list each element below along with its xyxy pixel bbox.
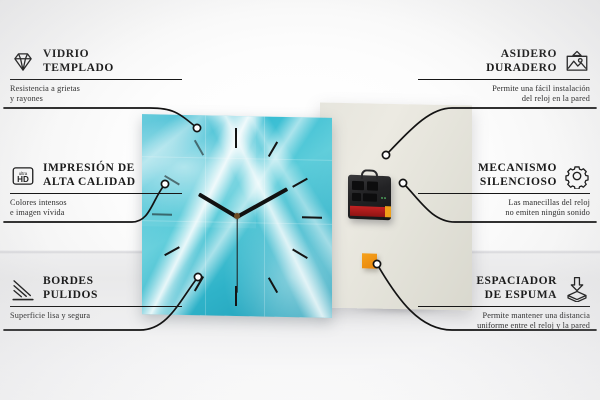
callout-title-line2: PULIDOS xyxy=(43,289,98,303)
callout-divider xyxy=(418,79,590,80)
callout-head: MECANISMO SILENCIOSO xyxy=(418,162,590,189)
hour-tick-12 xyxy=(235,128,237,148)
callout-title-line1: VIDRIO xyxy=(43,48,114,62)
callout-title-line2: TEMPLADO xyxy=(43,62,114,76)
callout-desc-line1: Colores intensos xyxy=(10,198,182,209)
callout-head: VIDRIO TEMPLADO xyxy=(10,48,182,75)
callout-title-line2: SILENCIOSO xyxy=(478,176,557,190)
callout-divider xyxy=(10,79,182,80)
callout-divider xyxy=(418,306,590,307)
callout-head: BORDES PULIDOS xyxy=(10,275,182,302)
callout-title: BORDES PULIDOS xyxy=(43,275,98,302)
callout-title-line1: BORDES xyxy=(43,275,98,289)
callout-title: IMPRESIÓN DE ALTA CALIDAD xyxy=(43,162,136,189)
battery-label xyxy=(350,206,386,217)
callout-desc-line1: Permite una fácil instalación xyxy=(418,84,590,95)
callout-title: VIDRIO TEMPLADO xyxy=(43,48,114,75)
gear-icon xyxy=(564,163,590,189)
callout-desc-line1: Las manecillas del reloj xyxy=(418,198,590,209)
callout-desc-line2: y rayones xyxy=(10,94,182,105)
clock-hub xyxy=(234,213,240,219)
callout-vidrio-templado: VIDRIO TEMPLADO Resistencia a grietas y … xyxy=(10,48,182,105)
callout-title: MECANISMO SILENCIOSO xyxy=(478,162,557,189)
foam-spacer-sample xyxy=(362,253,377,269)
callout-description: Superficie lisa y segura xyxy=(10,311,182,322)
callout-divider xyxy=(10,193,182,194)
callout-title-line1: ASIDERO xyxy=(486,48,557,62)
callout-bordes-pulidos: BORDES PULIDOS Superficie lisa y segura xyxy=(10,275,182,321)
ultra-hd-icon: ultra HD xyxy=(10,163,36,189)
callout-mecanismo-silencioso: MECANISMO SILENCIOSO Las manecillas del … xyxy=(418,162,590,219)
callout-head: ASIDERO DURADERO xyxy=(418,48,590,75)
callout-desc-line1: Resistencia a grietas xyxy=(10,84,182,95)
callout-desc-line2: no emiten ningún sonido xyxy=(418,208,590,219)
callout-title: ASIDERO DURADERO xyxy=(486,48,557,75)
callout-title-line2: ALTA CALIDAD xyxy=(43,176,136,190)
callout-desc-line2: del reloj en la pared xyxy=(418,94,590,105)
callout-description: Resistencia a grietas y rayones xyxy=(10,84,182,105)
callout-desc-line2: uniforme entre el reloj y la pared xyxy=(418,321,590,332)
callout-desc-line2: e imagen vívida xyxy=(10,208,182,219)
polished-edges-icon xyxy=(10,276,36,302)
callout-title: ESPACIADOR DE ESPUMA xyxy=(476,275,557,302)
svg-text:HD: HD xyxy=(17,175,29,184)
callout-head: ultra HD IMPRESIÓN DE ALTA CALIDAD xyxy=(10,162,182,189)
callout-title-line1: MECANISMO xyxy=(478,162,557,176)
callout-description: Colores intensos e imagen vívida xyxy=(10,198,182,219)
callout-impresion-alta-calidad: ultra HD IMPRESIÓN DE ALTA CALIDAD Color… xyxy=(10,162,182,219)
callout-title-line1: ESPACIADOR xyxy=(476,275,557,289)
callout-title-line1: IMPRESIÓN DE xyxy=(43,162,136,176)
product-feature-infographic: VIDRIO TEMPLADO Resistencia a grietas y … xyxy=(0,0,600,400)
callout-divider xyxy=(418,193,590,194)
clock-movement xyxy=(348,175,391,221)
callout-description: Permite mantener una distancia uniforme … xyxy=(418,311,590,332)
diamond-icon xyxy=(10,49,36,75)
callout-divider xyxy=(10,306,182,307)
hour-tick-3 xyxy=(302,216,322,218)
callout-desc-line1: Superficie lisa y segura xyxy=(10,311,182,322)
second-hand xyxy=(236,217,237,293)
hanging-frame-icon xyxy=(564,49,590,75)
callout-desc-line1: Permite mantener una distancia xyxy=(418,311,590,322)
callout-espaciador-de-espuma: ESPACIADOR DE ESPUMA Permite mantener un… xyxy=(418,275,590,332)
callout-asidero-duradero: ASIDERO DURADERO Permite una fácil insta… xyxy=(418,48,590,105)
callout-title-line2: DURADERO xyxy=(486,62,557,76)
foam-spacer-icon xyxy=(564,276,590,302)
callout-description: Las manecillas del reloj no emiten ningú… xyxy=(418,198,590,219)
movement-hanging-hook xyxy=(361,169,378,180)
callout-head: ESPACIADOR DE ESPUMA xyxy=(418,275,590,302)
callout-title-line2: DE ESPUMA xyxy=(476,289,557,303)
callout-description: Permite una fácil instalación del reloj … xyxy=(418,84,590,105)
